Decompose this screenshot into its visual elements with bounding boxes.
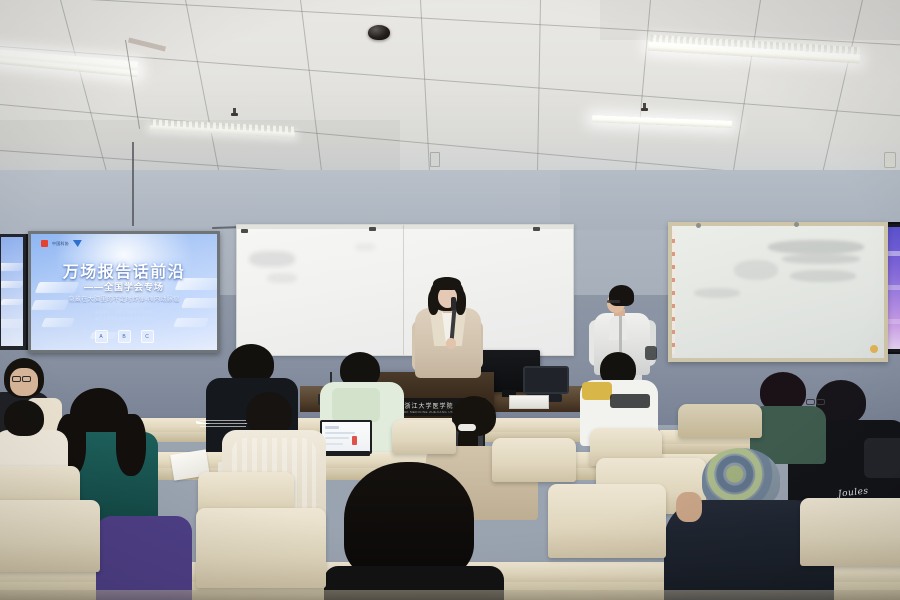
whiteboard-clip [241, 229, 248, 233]
glasses-icon [12, 376, 30, 380]
speaker-hand [446, 338, 456, 349]
speaker-fringe [433, 277, 461, 290]
floor [0, 590, 900, 600]
whiteboard-secondary [668, 222, 888, 362]
sprinkler-head-icon [231, 108, 238, 117]
lecture-hall-photo: 中国科协 万场报告话前沿 ——全国学会专场 隐藏在大脑里的不定时炸弹-颅内动脉瘤… [0, 0, 900, 600]
whiteboard-main [236, 224, 574, 356]
slide-organizer-line-1: 主办单位：中国生物医学工程学会 [31, 310, 217, 315]
hair-tie [458, 424, 476, 431]
slide-logo-text: 中国科协 [52, 241, 69, 247]
whiteboard-corner-marker [870, 345, 878, 353]
glasses-icon [806, 399, 824, 403]
security-camera-icon [368, 25, 390, 40]
slide-main-title: 万场报告话前沿 [31, 258, 217, 282]
jacket-print-subtext [200, 420, 246, 428]
man-elbow-shadow [645, 346, 657, 360]
sprinkler-head-icon [641, 103, 648, 112]
lecture-chair [0, 500, 100, 572]
podium-sign-line-1: 浙江大学医学院 [404, 401, 453, 410]
slide-organizer-line-2: 浙江大学医学院学院科学技术协会 [31, 317, 217, 322]
secondary-display-left [0, 234, 28, 350]
slide-icon-c: C [141, 330, 154, 343]
whiteboard-clip [369, 227, 376, 231]
lecture-chair [800, 498, 900, 566]
lecture-chair [492, 438, 576, 482]
slide-subtitle: ——全国学会专场 [31, 280, 217, 293]
slide-icon-a: A [95, 330, 108, 343]
slide-logo: 中国科协 [41, 240, 82, 247]
lecture-chair [548, 484, 666, 558]
slide-topic-line: 隐藏在大脑里的不定时炸弹-颅内动脉瘤 [31, 294, 217, 303]
lecture-chair [196, 508, 326, 588]
wall-sensor-box [430, 152, 440, 167]
man-shirt [609, 316, 627, 340]
logo-mark-blue [73, 240, 82, 247]
logo-mark-red [41, 240, 48, 247]
whiteboard-edge-strip [672, 230, 675, 354]
slide-icon-b: B [118, 330, 131, 343]
ceiling [0, 0, 900, 178]
glasses-icon [607, 300, 620, 303]
paper-stack [509, 395, 549, 409]
lecture-chair [392, 420, 456, 454]
hanging-cable [132, 142, 134, 226]
presentation-slide: 中国科协 万场报告话前沿 ——全国学会专场 隐藏在大脑里的不定时炸弹-颅内动脉瘤… [31, 234, 217, 350]
whiteboard-clip [533, 227, 540, 231]
projection-screen: 中国科协 万场报告话前沿 ——全国学会专场 隐藏在大脑里的不定时炸弹-颅内动脉瘤… [28, 231, 220, 353]
slide-icon-row: A B C [31, 330, 217, 343]
wall-speaker-icon [884, 152, 896, 168]
ceiling-tile-grid [0, 0, 900, 178]
upper-wall-right [560, 170, 900, 230]
microphone-icon [451, 297, 456, 310]
lecture-chair [678, 404, 762, 438]
